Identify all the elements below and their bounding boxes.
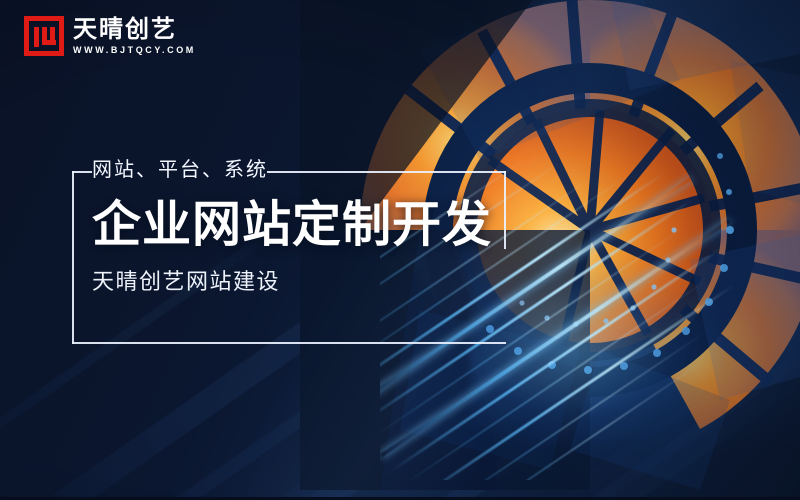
brand-name: 天晴创艺	[73, 17, 196, 42]
hero-headline: 企业网站定制开发	[92, 199, 522, 252]
hero-copy: 网站、平台、系统 企业网站定制开发 天晴创艺网站建设	[92, 155, 522, 298]
promo-banner: 天晴创艺 WWW.BJTQCY.COM 网站、平台、系统 企业网站定制开发 天晴…	[0, 0, 800, 500]
brand-website: WWW.BJTQCY.COM	[73, 46, 196, 55]
brand-logo: 天晴创艺 WWW.BJTQCY.COM	[24, 16, 196, 56]
brand-logo-text: 天晴创艺 WWW.BJTQCY.COM	[73, 17, 196, 55]
brand-logo-icon	[24, 16, 64, 56]
hero-eyebrow: 网站、平台、系统	[92, 155, 522, 183]
hero-subline: 天晴创艺网站建设	[92, 269, 522, 298]
